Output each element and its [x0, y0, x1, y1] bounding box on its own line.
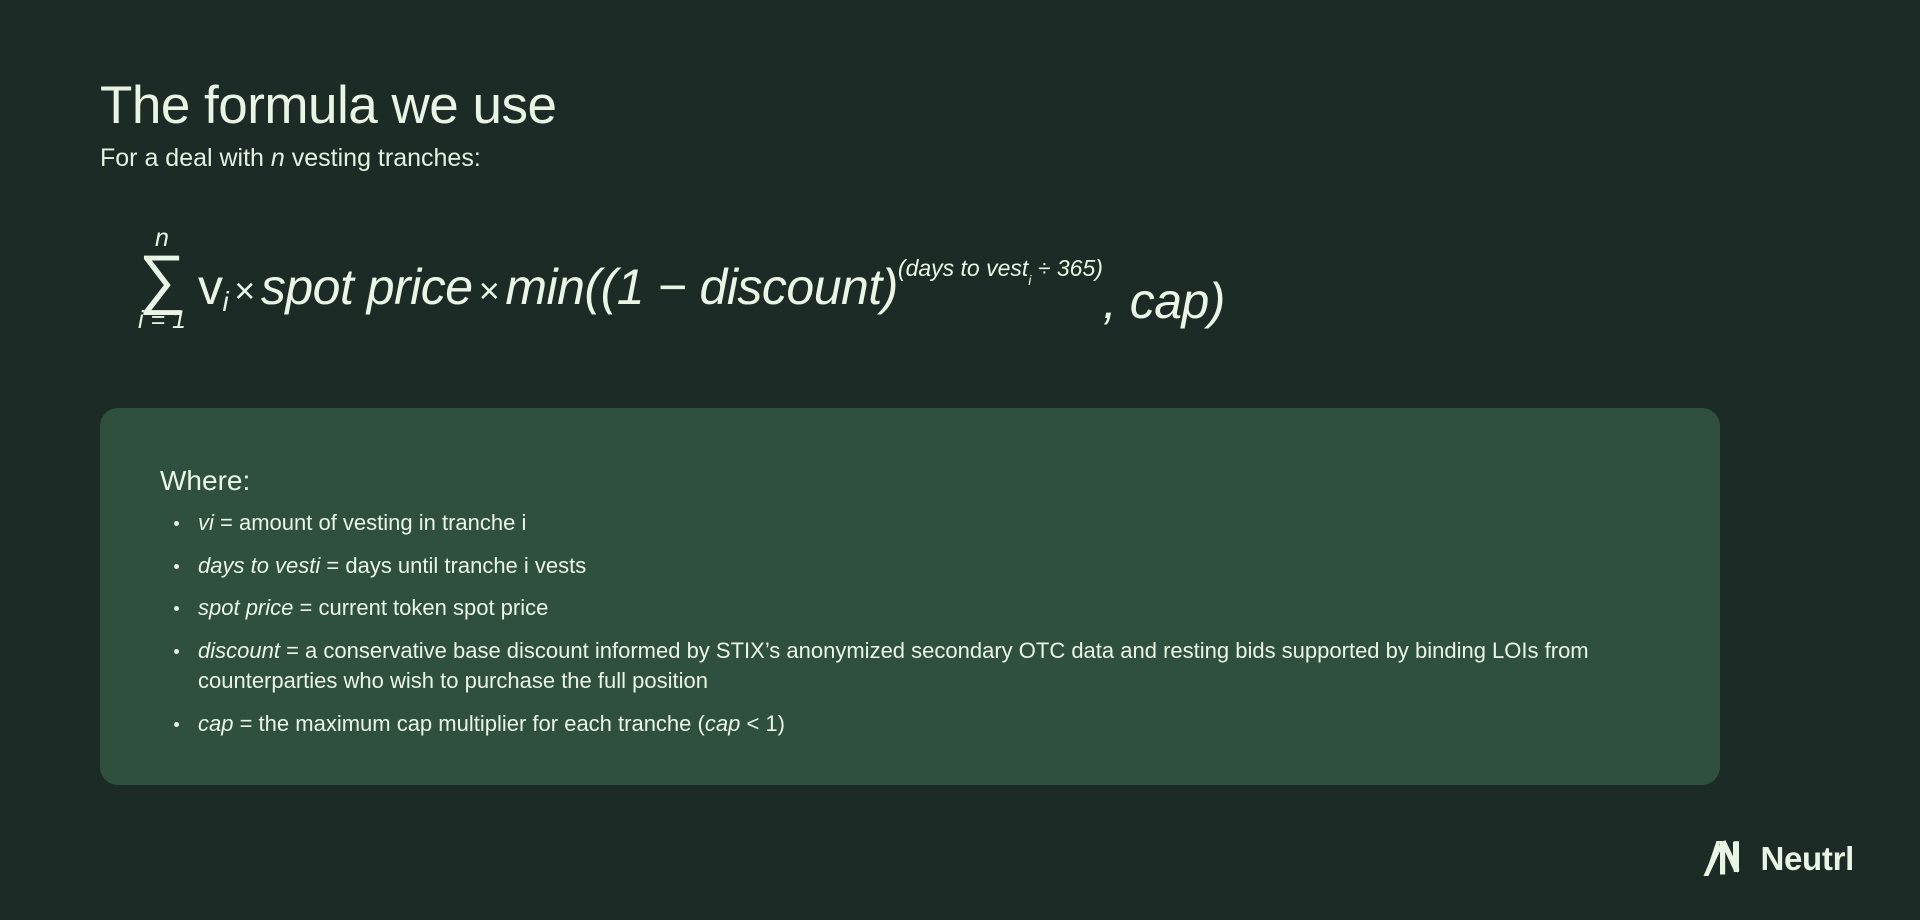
formula-min-open: min((1 − discount)	[505, 262, 898, 312]
where-title: Where:	[160, 464, 1660, 498]
definition-text: = days until tranche i vests	[320, 553, 586, 578]
definition-text: = the maximum cap multiplier for each tr…	[233, 711, 704, 736]
summation-operator: n ∑ i = 1	[138, 226, 186, 333]
bullet-icon	[174, 606, 179, 611]
list-item: discount = a conservative base discount …	[160, 636, 1660, 696]
subtitle-text-after: vesting tranches:	[285, 144, 481, 172]
bullet-icon	[174, 722, 179, 727]
definition-term: days to vest	[198, 553, 315, 578]
neutrl-logo-icon	[1702, 838, 1748, 878]
page-title: The formula we use	[100, 76, 556, 135]
bullet-icon	[174, 649, 179, 654]
subtitle-variable-n: n	[271, 144, 285, 172]
brand-logo: Neutrl	[1702, 838, 1854, 878]
heading-block: The formula we use For a deal with n ves…	[100, 76, 556, 175]
list-item: days to vesti = days until tranche i ves…	[160, 551, 1660, 581]
multiplication-sign-1: ×	[228, 273, 261, 309]
definition-term: discount	[198, 638, 280, 663]
brand-name: Neutrl	[1760, 842, 1854, 875]
bullet-icon	[174, 521, 179, 526]
formula-variable-v: v	[198, 262, 223, 312]
formula-expression: n ∑ i = 1 vi×spot price×min((1 − discoun…	[138, 248, 1225, 355]
definition-term: cap	[198, 711, 233, 736]
formula-exponent: (days to vesti ÷ 365)	[898, 257, 1103, 285]
formula-tail: , cap)	[1103, 276, 1225, 326]
bullet-icon	[174, 564, 179, 569]
definition-term: spot price	[198, 595, 293, 620]
definition-text-italic: cap	[705, 711, 740, 736]
slide-root: The formula we use For a deal with n ves…	[0, 0, 1920, 920]
exponent-open: (days to vest	[898, 255, 1028, 281]
multiplication-sign-2: ×	[473, 273, 506, 309]
list-item: cap = the maximum cap multiplier for eac…	[160, 709, 1660, 739]
list-item: vi = amount of vesting in tranche i	[160, 508, 1660, 538]
page-subtitle: For a deal with n vesting tranches:	[100, 143, 556, 174]
definition-term: v	[198, 510, 209, 535]
definition-text: = a conservative base discount informed …	[198, 638, 1589, 693]
exponent-close: ÷ 365)	[1031, 255, 1102, 281]
exponent-subscript: i	[1028, 273, 1031, 289]
where-definitions-card: Where: vi = amount of vesting in tranche…	[100, 408, 1720, 785]
formula-body: vi×spot price×min((1 − discount)(days to…	[198, 262, 1225, 313]
definition-text: = amount of vesting in tranche i	[214, 510, 526, 535]
sigma-icon: ∑	[138, 249, 185, 310]
where-list: vi = amount of vesting in tranche i days…	[160, 508, 1660, 739]
definition-text-tail: < 1)	[740, 711, 785, 736]
formula-spot-price: spot price	[261, 262, 473, 312]
subtitle-text-before: For a deal with	[100, 144, 271, 172]
summation-lower-limit: i = 1	[138, 308, 186, 333]
definition-text: = current token spot price	[293, 595, 548, 620]
list-item: spot price = current token spot price	[160, 593, 1660, 623]
